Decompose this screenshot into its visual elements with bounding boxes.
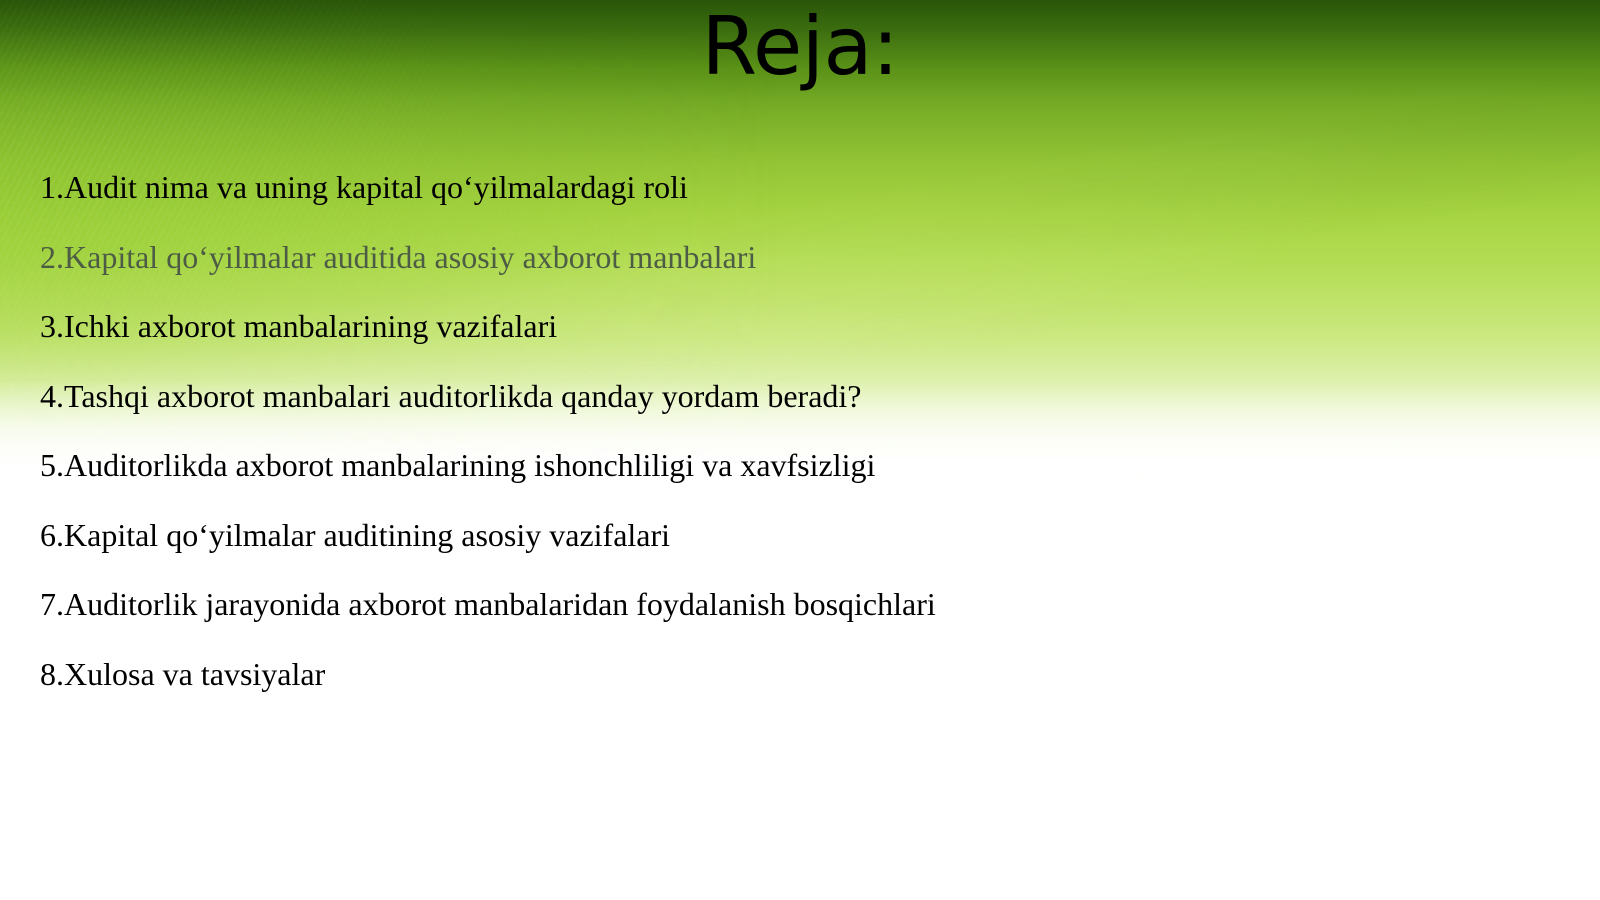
list-item: 7.Auditorlik jarayonida axborot manbalar… (40, 588, 1520, 620)
list-item-number: 3. (40, 308, 64, 344)
list-item-number: 5. (40, 447, 64, 483)
outline-list: 1.Audit nima va uning kapital qoʻyilmala… (40, 171, 1520, 690)
list-item: 3.Ichki axborot manbalarining vazifalari (40, 310, 1520, 342)
list-item-number: 7. (40, 586, 64, 622)
list-item: 8.Xulosa va tavsiyalar (40, 658, 1520, 690)
list-item-number: 4. (40, 378, 64, 414)
list-item-label: Tashqi axborot manbalari auditorlikda qa… (64, 378, 861, 414)
list-item-label: Xulosa va tavsiyalar (64, 656, 325, 692)
slide-content: Reja: 1.Audit nima va uning kapital qoʻy… (0, 0, 1600, 900)
list-item: 5.Auditorlikda axborot manbalarining ish… (40, 449, 1520, 481)
list-item: 4.Tashqi axborot manbalari auditorlikda … (40, 380, 1520, 412)
list-item-number: 1. (40, 169, 64, 205)
list-item-label: Auditorlikda axborot manbalarining ishon… (64, 447, 875, 483)
list-item: 6.Kapital qoʻyilmalar auditining asosiy … (40, 519, 1520, 551)
list-item-label: Kapital qoʻyilmalar auditida asosiy axbo… (64, 239, 756, 275)
list-item: 2.Kapital qoʻyilmalar auditida asosiy ax… (40, 241, 1520, 273)
page-title: Reja: (0, 4, 1600, 90)
list-item-number: 2. (40, 239, 64, 275)
list-item-label: Ichki axborot manbalarining vazifalari (64, 308, 557, 344)
list-item-label: Auditorlik jarayonida axborot manbalarid… (64, 586, 936, 622)
list-item-label: Kapital qoʻyilmalar auditining asosiy va… (64, 517, 670, 553)
list-item-number: 8. (40, 656, 64, 692)
list-item-number: 6. (40, 517, 64, 553)
presentation-slide: Reja: 1.Audit nima va uning kapital qoʻy… (0, 0, 1600, 900)
list-item-label: Audit nima va uning kapital qoʻyilmalard… (64, 169, 688, 205)
list-item: 1.Audit nima va uning kapital qoʻyilmala… (40, 171, 1520, 203)
